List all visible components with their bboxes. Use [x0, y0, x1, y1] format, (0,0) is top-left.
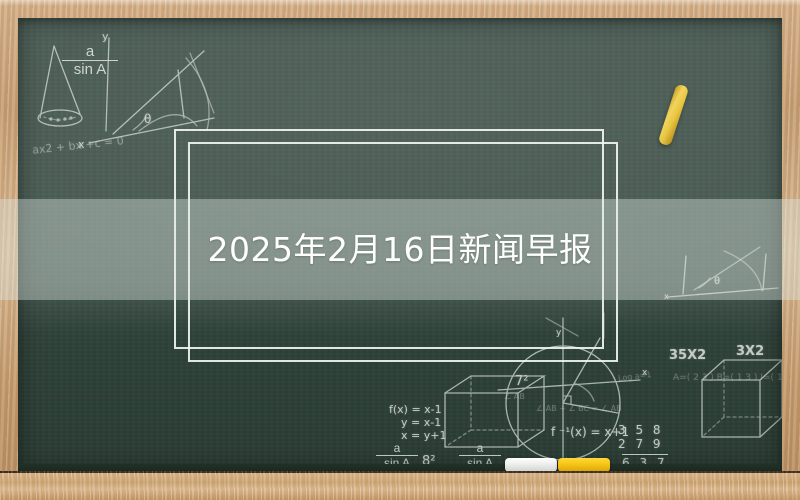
chalk-sum-row-mid: 2 7 9: [618, 437, 664, 451]
page-title: 2025年2月16日新闻早报: [0, 230, 800, 270]
chalk-axis-label-x-bottomright: x: [642, 368, 647, 378]
wooden-bottom-ledge: [0, 471, 800, 500]
chalk-angle-theta-rightmid: θ: [714, 276, 720, 287]
chalk-small-note-ab: ∠ AB: [504, 392, 525, 401]
chalk-function-x-eq: x = y+1: [401, 429, 446, 442]
frame-top-highlight: [0, 0, 800, 6]
chalkboard-poster: a sin A y x θ ax2 + bx +c = 0 f(x) = x-1…: [0, 0, 800, 500]
chalk-stick-white-icon: [505, 458, 557, 472]
chalk-vector-note: ∠ AB + ∠ BC = ∠ AB: [536, 404, 622, 413]
chalk-axis-label-x-topleft: x: [78, 138, 85, 151]
chalk-function-y-eq: y = x-1: [401, 416, 441, 429]
chalk-function-fx: f(x) = x-1: [389, 403, 442, 416]
chalk-fraction-a-sinA-topleft: a sin A: [62, 44, 118, 78]
chalk-seven-squared: 7²: [515, 374, 528, 389]
chalk-axis-label-x-rightmid: x: [664, 292, 669, 301]
chalk-inverse-function: f ⁻¹(x) = x+1: [551, 425, 629, 439]
chalk-stick-yellow-icon: [558, 458, 610, 472]
chalk-quadratic-equation: ax2 + bx +c = 0: [32, 134, 125, 157]
chalk-sum-row-top: 3 5 8: [618, 423, 664, 437]
chalk-log-note: Log a=1: [618, 370, 652, 383]
chalk-matrix-row: A=( 2 3 ) B=( 1 3 ) I=( 1 0 ): [673, 373, 782, 383]
chalk-matrix-dim-35x2: 35X2: [669, 348, 706, 363]
chalk-axis-label-y-topleft: y: [102, 30, 109, 43]
chalk-angle-theta-topleft: θ: [144, 112, 151, 126]
chalk-matrix-dim-3x2: 3X2: [736, 344, 764, 359]
